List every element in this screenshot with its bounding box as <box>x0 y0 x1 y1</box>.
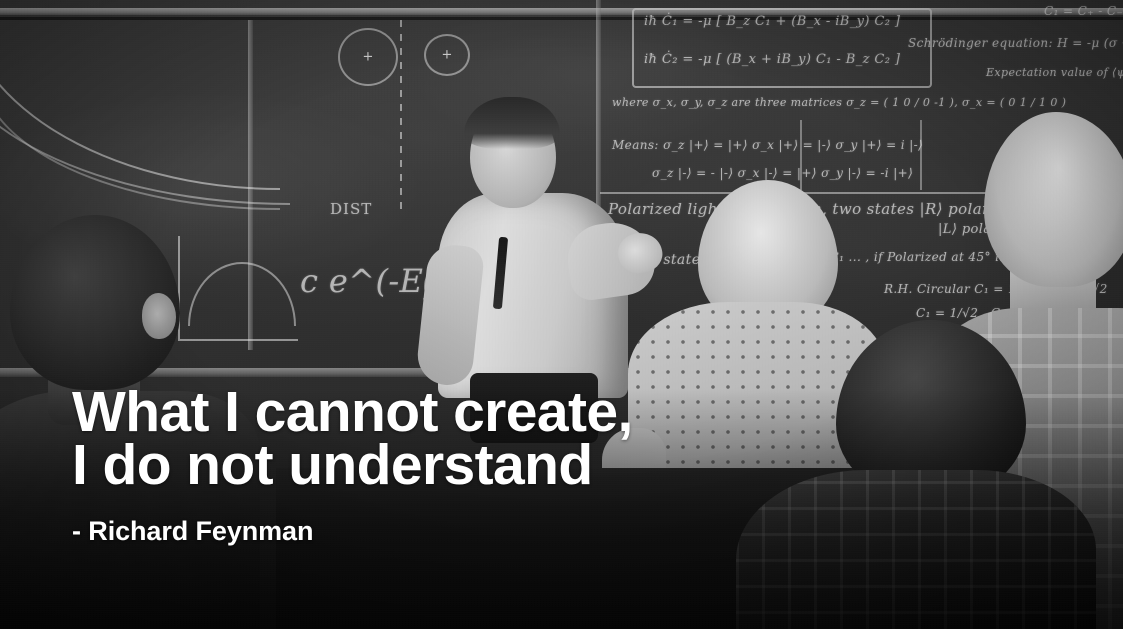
chalk-schrodinger: Schrödinger equation: H = -μ (σ · B) <box>908 36 1123 50</box>
chalk-means-1: Means: σ_z |+⟩ = |+⟩ σ_x |+⟩ = |-⟩ σ_y |… <box>612 138 923 152</box>
quote-image: DIST c e^(-E_i / kT) iħ Ċ₁ = -μ [ B_z C₁… <box>0 0 1123 629</box>
atom-circle-1-icon <box>338 28 398 86</box>
student-center-plaid <box>806 320 1096 629</box>
chalk-boxed-equation-1: iħ Ċ₁ = -μ [ B_z C₁ + (B_x - iB_y) C₂ ] <box>644 14 900 29</box>
chalk-c-relation: C₁ = C₊ - C₋ ... <box>1044 4 1123 18</box>
student-far-right-head <box>984 112 1123 287</box>
quote-text: What I cannot create, I do not understan… <box>72 386 772 492</box>
chalk-expectation: Expectation value of ⟨ψ| σ_z |ψ⟩ <box>986 66 1123 79</box>
quote-overlay: What I cannot create, I do not understan… <box>72 386 772 547</box>
dashed-axis-icon <box>400 20 402 210</box>
chalk-column-divider-2 <box>920 120 922 190</box>
chalk-boxed-equation-2: iħ Ċ₂ = -μ [ (B_x + iB_y) C₁ - B_z C₂ ] <box>644 52 900 67</box>
chalk-means-2: σ_z |-⟩ = - |-⟩ σ_x |-⟩ = |+⟩ σ_y |-⟩ = … <box>652 166 913 180</box>
chalk-matrices-intro: where σ_x, σ_y, σ_z are three matrices σ… <box>612 96 1066 109</box>
chalk-dist-label: DIST <box>330 200 372 218</box>
student-left-ear <box>142 293 176 339</box>
atom-circle-2-icon <box>424 34 470 76</box>
lecturer-hair <box>464 97 560 149</box>
student-center-plaid-shirt <box>736 470 1096 629</box>
lecturer-feynman <box>418 95 653 395</box>
quote-attribution: - Richard Feynman <box>72 516 772 547</box>
